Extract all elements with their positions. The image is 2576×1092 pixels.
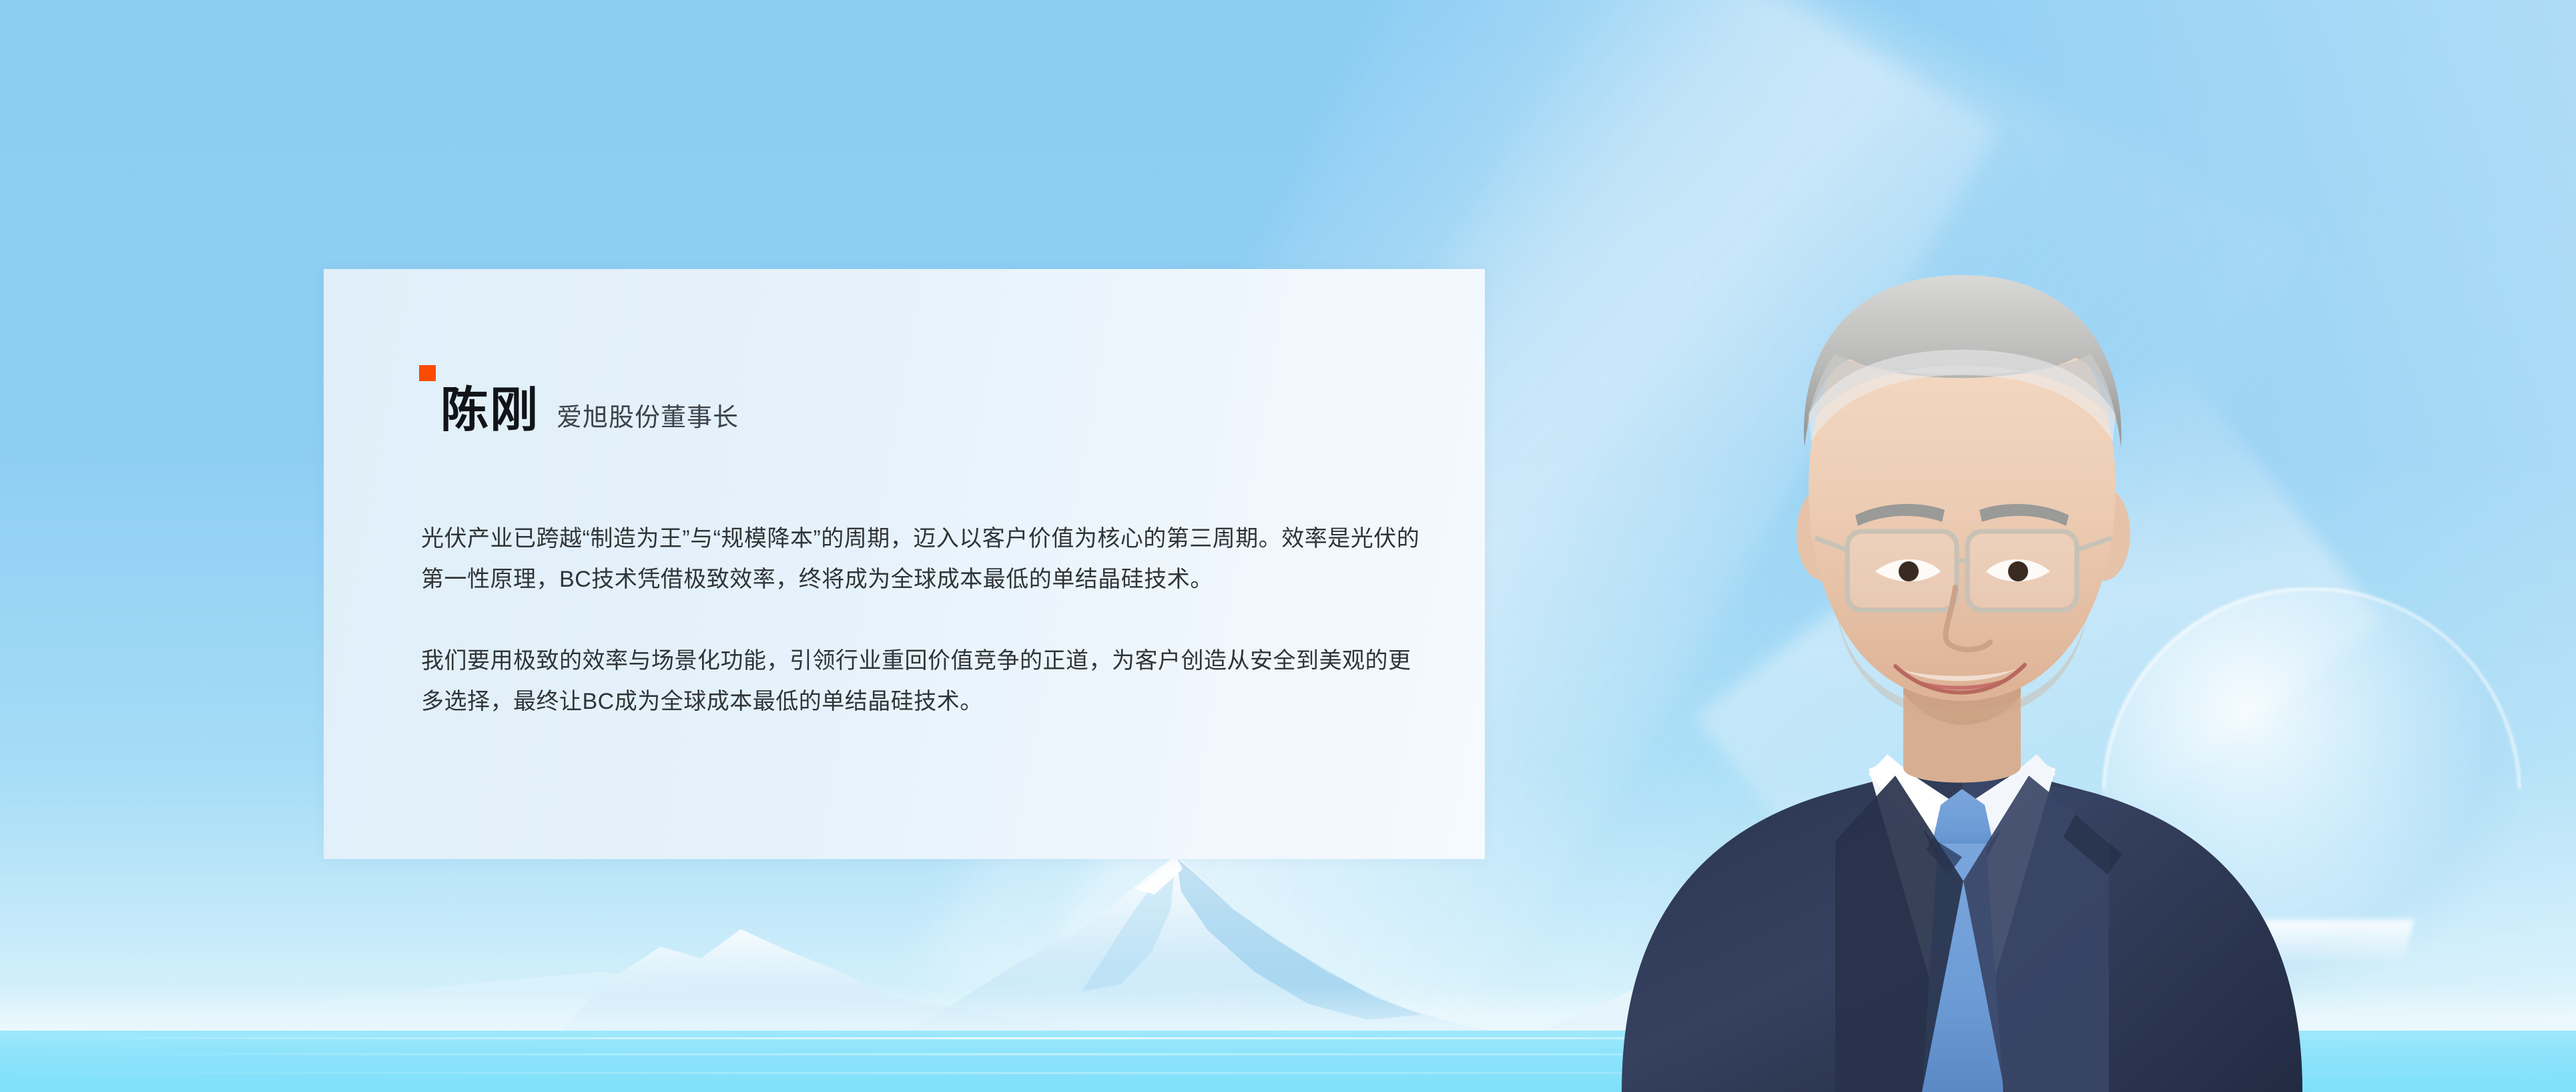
speaker-name: 陈刚 — [440, 386, 539, 435]
orange-square-marker-icon — [419, 365, 436, 381]
hero-banner: 陈刚 爱旭股份董事长 光伏产业已跨越“制造为王”与“规模降本”的周期，迈入以客户… — [0, 0, 2576, 1092]
water-haze — [0, 987, 2576, 1033]
speaker-role: 爱旭股份董事长 — [557, 405, 739, 435]
quote-paragraph: 光伏产业已跨越“制造为王”与“规模降本”的周期，迈入以客户价值为核心的第三周期。… — [421, 519, 1422, 600]
quote-paragraph: 我们要用极致的效率与场景化功能，引领行业重回价值竞争的正道，为客户创造从安全到美… — [421, 641, 1422, 722]
quote-body: 光伏产业已跨越“制造为王”与“规模降本”的周期，迈入以客户价值为核心的第三周期。… — [421, 519, 1422, 722]
ice-water-band — [0, 1031, 2576, 1092]
quote-card: 陈刚 爱旭股份董事长 光伏产业已跨越“制造为王”与“规模降本”的周期，迈入以客户… — [324, 269, 1485, 859]
speaker-identity: 陈刚 爱旭股份董事长 — [440, 386, 739, 435]
